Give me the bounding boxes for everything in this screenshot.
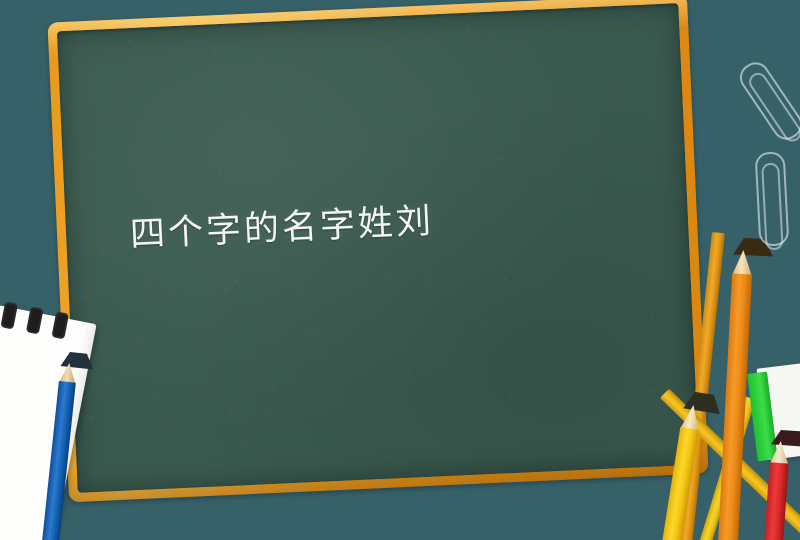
paper-clip-icon (755, 151, 790, 246)
red-pencil-body (763, 462, 789, 540)
chalkboard-title-text: 四个字的名字姓刘 (129, 200, 435, 257)
spiral-ring (51, 311, 69, 339)
red-pencil-lead (771, 429, 800, 447)
paper-clip-icon (735, 57, 800, 145)
chalkboard-surface: 四个字的名字姓刘 (57, 3, 699, 493)
chalkboard: 四个字的名字姓刘 (47, 0, 708, 502)
yellow-pencil-lead (683, 391, 722, 415)
spiral-ring (26, 306, 44, 334)
blue-pencil-lead (60, 351, 94, 369)
spiral-ring (0, 301, 18, 329)
scene-canvas: 四个字的名字姓刘 (0, 0, 800, 540)
